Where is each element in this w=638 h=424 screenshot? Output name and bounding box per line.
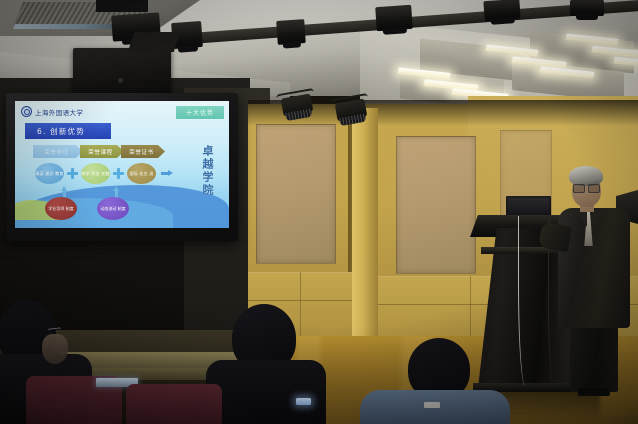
projection-screen: 上海外国语大学 十大优势 6. 创新优势 荣誉学位 荣誉课程 荣誉证书 精英 通…: [6, 93, 238, 241]
university-name: 上海外国语大学: [35, 107, 83, 117]
chevron-process-row: 荣誉学位 荣誉课程 荣誉证书: [33, 145, 162, 158]
ellipse-node-bottom: 学业导师 制度: [45, 197, 77, 220]
lecture-hall-photo: 上海外国语大学 十大优势 6. 创新优势 荣誉学位 荣誉课程 荣誉证书 精英 通…: [0, 0, 638, 424]
speaker-bracket: [128, 32, 180, 52]
stage-spotlight-icon: [375, 5, 413, 31]
list-item: [212, 304, 330, 424]
presenter-shoe: [578, 388, 610, 396]
mobile-phone: [296, 398, 311, 405]
ellipse-node: 国际 化交 流: [127, 163, 156, 184]
cable-icon: [518, 216, 530, 386]
chevron-step: 荣誉课程: [80, 145, 124, 158]
acoustic-panel: [256, 124, 336, 264]
plus-icon: [67, 168, 78, 179]
audience-body: [206, 360, 326, 424]
chevron-step: 荣誉证书: [121, 145, 165, 158]
ellipse-formula-row: 精英 通识 教育 跨学 科交 叉融 国际 化交 流: [35, 163, 173, 184]
list-item: [378, 338, 506, 424]
presenter: [556, 166, 632, 388]
monitor-mount: [96, 0, 148, 12]
screen-surface: 上海外国语大学 十大优势 6. 创新优势 荣誉学位 荣誉课程 荣誉证书 精英 通…: [15, 101, 229, 228]
university-seal-icon: [21, 106, 32, 117]
stage-spotlight-icon: [276, 19, 306, 45]
presentation-slide: 上海外国语大学 十大优势 6. 创新优势 荣誉学位 荣誉课程 荣誉证书 精英 通…: [15, 101, 229, 228]
speaker-cone: [118, 78, 123, 83]
presenter-hair: [569, 166, 603, 186]
slide-badge: 十大优势: [176, 106, 224, 119]
audience-face: [42, 334, 68, 364]
chevron-step: 荣誉学位: [33, 145, 83, 158]
slide-vertical-title: 卓越学院: [199, 145, 215, 197]
laptop-screen: [508, 198, 549, 215]
handheld-device: [424, 402, 440, 408]
slide-title: 6. 创新优势: [25, 123, 111, 139]
acoustic-panel: [396, 136, 476, 274]
plus-icon: [113, 168, 124, 179]
stage-spotlight-icon: [335, 99, 368, 122]
glasses-icon: [48, 327, 61, 332]
presenter-legs: [570, 322, 618, 392]
wall-corner-column: [352, 108, 378, 348]
auditorium-seat: [126, 384, 222, 424]
arrow-right-icon: [161, 170, 173, 177]
university-logo: 上海外国语大学: [21, 106, 83, 117]
ellipse-node: 跨学 科交 叉融: [81, 163, 110, 184]
stage-spotlight-icon: [483, 0, 520, 21]
stage-spotlight-icon: [281, 94, 314, 117]
ellipse-node-bottom: 动态流动 制度: [97, 197, 129, 220]
stage-spotlight-icon: [570, 0, 604, 16]
ellipse-node: 精英 通识 教育: [35, 163, 64, 184]
glasses-icon: [573, 184, 600, 191]
